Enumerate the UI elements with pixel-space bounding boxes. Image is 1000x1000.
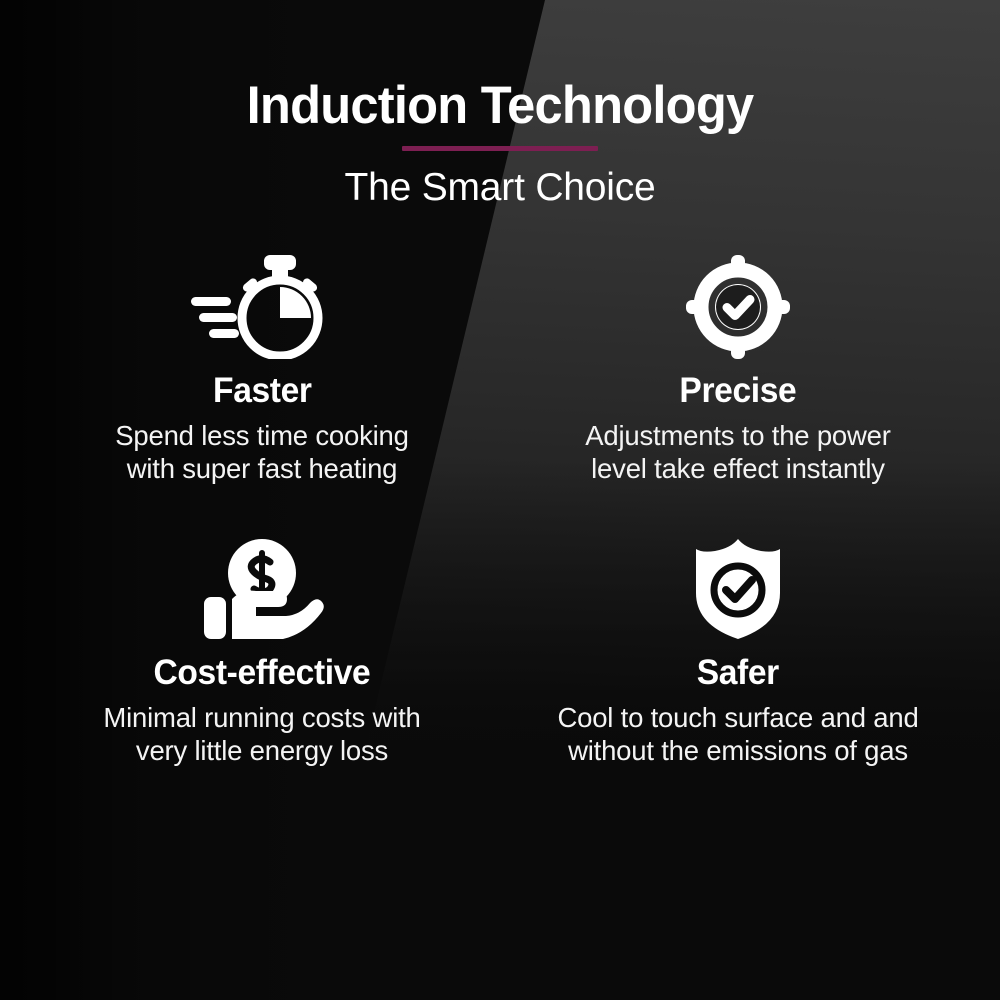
hand-holding-coin-icon bbox=[198, 537, 326, 641]
feature-title: Precise bbox=[680, 373, 797, 410]
feature-grid: Faster Spend less time cooking with supe… bbox=[0, 255, 1000, 767]
feature-title: Safer bbox=[697, 655, 779, 692]
induction-technology-poster: Induction Technology The Smart Choice bbox=[0, 0, 1000, 1000]
shield-check-icon bbox=[690, 537, 786, 641]
page-title: Induction Technology bbox=[23, 78, 978, 133]
feature-card-precise: Precise Adjustments to the power level t… bbox=[500, 255, 976, 485]
feature-card-safer: Safer Cool to touch surface and and with… bbox=[500, 537, 976, 767]
title-accent-rule bbox=[402, 146, 598, 151]
feature-title: Cost-effective bbox=[154, 655, 371, 692]
feature-description: Adjustments to the power level take effe… bbox=[585, 419, 891, 485]
feature-card-faster: Faster Spend less time cooking with supe… bbox=[24, 255, 500, 485]
feature-card-cost-effective: Cost-effective Minimal running costs wit… bbox=[24, 537, 500, 767]
stopwatch-speed-icon bbox=[187, 255, 337, 359]
feature-title: Faster bbox=[213, 373, 312, 410]
target-check-icon bbox=[686, 255, 790, 359]
poster-header: Induction Technology The Smart Choice bbox=[0, 0, 1000, 209]
feature-description: Spend less time cooking with super fast … bbox=[115, 419, 408, 485]
feature-description: Minimal running costs with very little e… bbox=[103, 701, 420, 767]
feature-description: Cool to touch surface and and without th… bbox=[557, 701, 918, 767]
poster-content: Induction Technology The Smart Choice bbox=[0, 0, 1000, 1000]
page-subtitle: The Smart Choice bbox=[0, 168, 1000, 209]
